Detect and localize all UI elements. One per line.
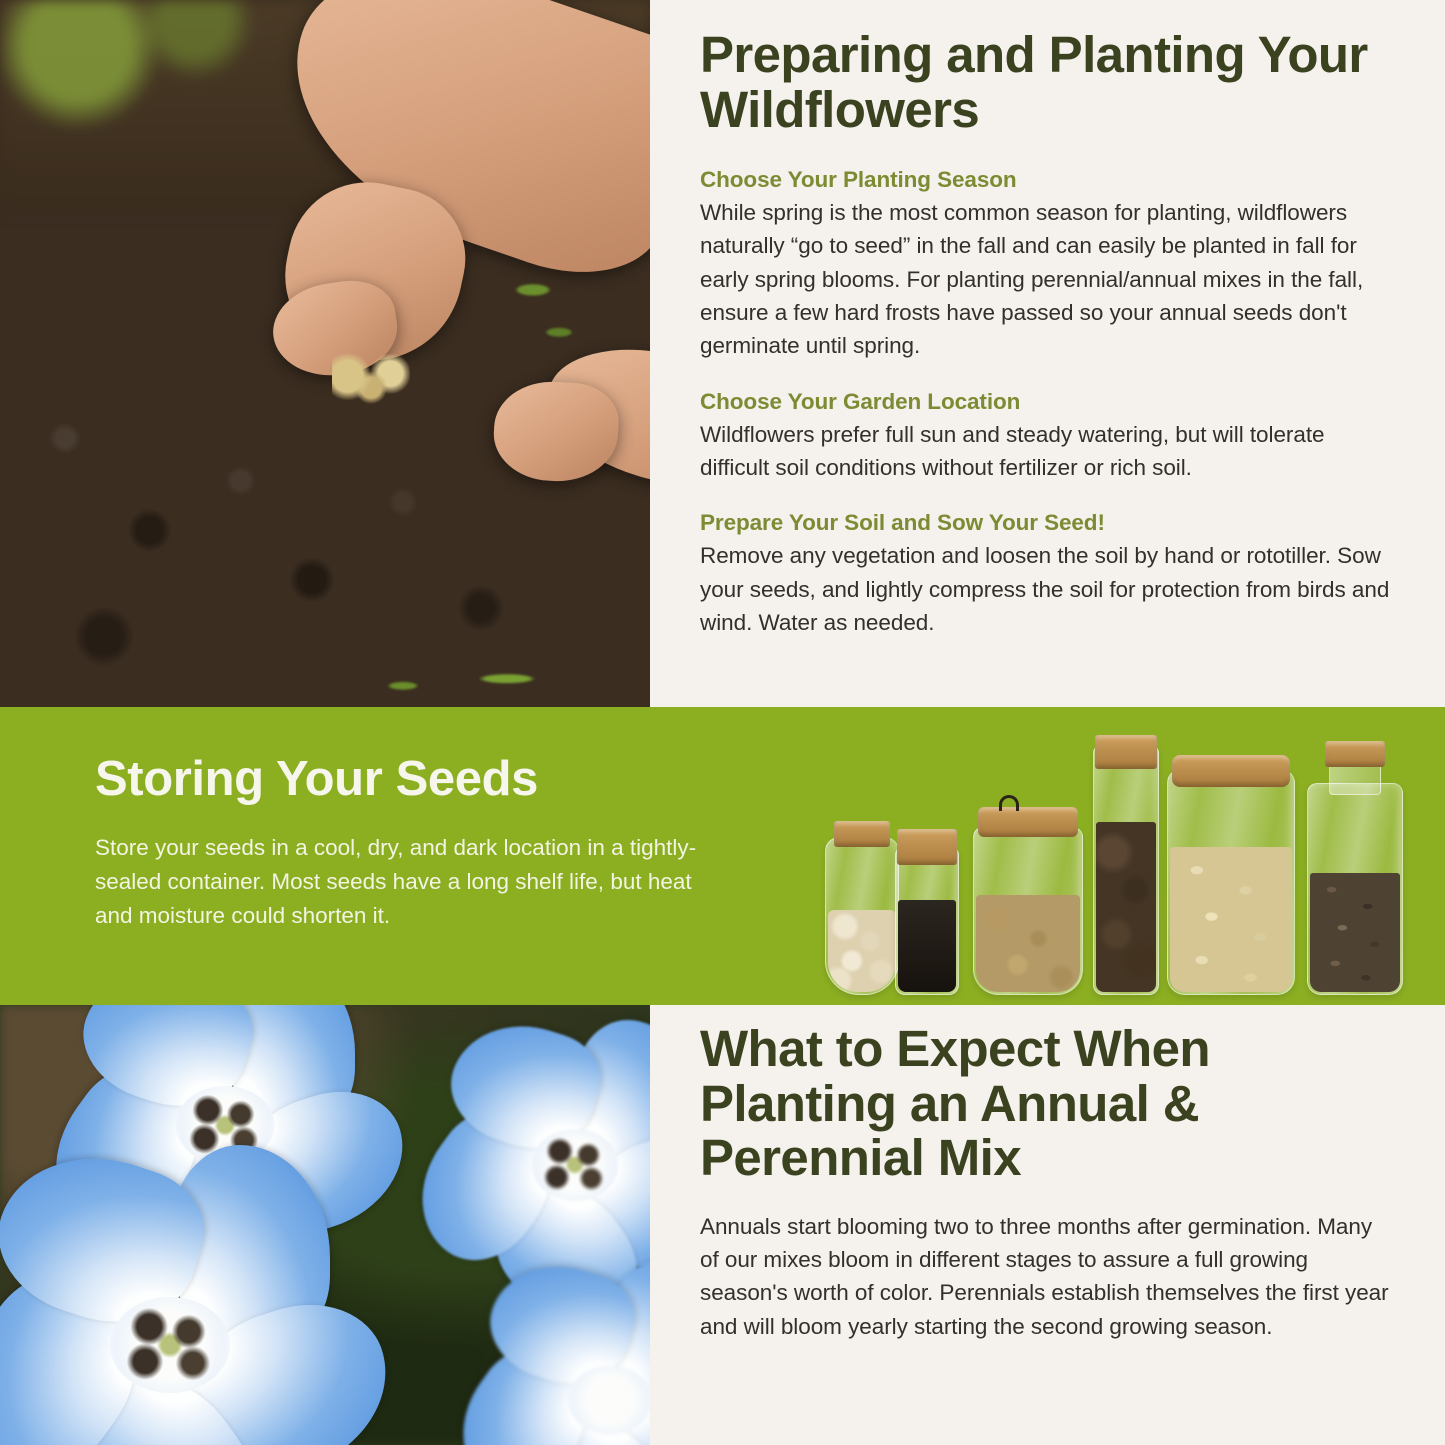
jar-sunflower-seeds xyxy=(1307,783,1403,995)
subheading-garden-location: Choose Your Garden Location xyxy=(700,389,1390,415)
blue-wildflowers-photo xyxy=(0,1005,650,1445)
cork-pull-tab xyxy=(999,795,1019,811)
jar-contents xyxy=(1096,822,1156,992)
top-text-column: Preparing and Planting Your Wildflowers … xyxy=(700,28,1390,639)
cork-lid-icon xyxy=(897,829,957,865)
flower-center xyxy=(568,1366,650,1435)
content-block-planting-season: Choose Your Planting Season While spring… xyxy=(700,167,1390,362)
jar-contents xyxy=(1170,847,1292,992)
cork-lid-icon xyxy=(978,807,1078,837)
flower-anthers xyxy=(537,1134,612,1196)
bottom-section-body: Annuals start blooming two to three mont… xyxy=(700,1210,1390,1343)
body-prepare-soil: Remove any vegetation and loosen the soi… xyxy=(700,539,1390,639)
jar-contents xyxy=(976,895,1080,992)
band-title: Storing Your Seeds xyxy=(95,755,715,805)
jar-dark-seeds-tube xyxy=(1093,745,1159,995)
content-block-prepare-soil: Prepare Your Soil and Sow Your Seed! Rem… xyxy=(700,510,1390,639)
soil-sowing-photo xyxy=(0,0,650,707)
subheading-prepare-soil: Prepare Your Soil and Sow Your Seed! xyxy=(700,510,1390,536)
jar-pumpkin-seeds xyxy=(1167,769,1295,995)
jar-tan-millet xyxy=(973,827,1083,995)
jar-white-beans xyxy=(825,837,899,995)
seed-jars-photo xyxy=(815,717,1435,1005)
page-title: Preparing and Planting Your Wildflowers xyxy=(700,28,1390,137)
jar-contents xyxy=(898,900,956,992)
body-garden-location: Wildflowers prefer full sun and steady w… xyxy=(700,418,1390,485)
subheading-planting-season: Choose Your Planting Season xyxy=(700,167,1390,193)
seeds-in-hand xyxy=(332,354,410,411)
cork-lid-icon xyxy=(1325,741,1385,767)
cork-lid-icon xyxy=(1095,735,1157,769)
flower-bloom-right xyxy=(430,1045,650,1285)
flower-bloom-main xyxy=(0,1185,370,1445)
body-planting-season: While spring is the most common season f… xyxy=(700,196,1390,362)
band-text-column: Storing Your Seeds Store your seeds in a… xyxy=(95,755,715,934)
jar-contents xyxy=(828,910,896,992)
bottom-section-title: What to Expect When Planting an Annual &… xyxy=(700,1022,1390,1186)
bottom-text-column: What to Expect When Planting an Annual &… xyxy=(700,1022,1390,1343)
infographic-page: Preparing and Planting Your Wildflowers … xyxy=(0,0,1445,1445)
jar-black-seed xyxy=(895,847,959,995)
jar-contents xyxy=(1310,873,1400,992)
flower-anthers xyxy=(118,1303,222,1386)
flower-bloom-bottom-right xyxy=(470,1285,650,1445)
storing-seeds-band: Storing Your Seeds Store your seeds in a… xyxy=(0,707,1445,1005)
cork-lid-icon xyxy=(1172,755,1290,787)
content-block-garden-location: Choose Your Garden Location Wildflowers … xyxy=(700,389,1390,485)
band-body: Store your seeds in a cool, dry, and dar… xyxy=(95,831,715,934)
cork-lid-icon xyxy=(834,821,890,847)
